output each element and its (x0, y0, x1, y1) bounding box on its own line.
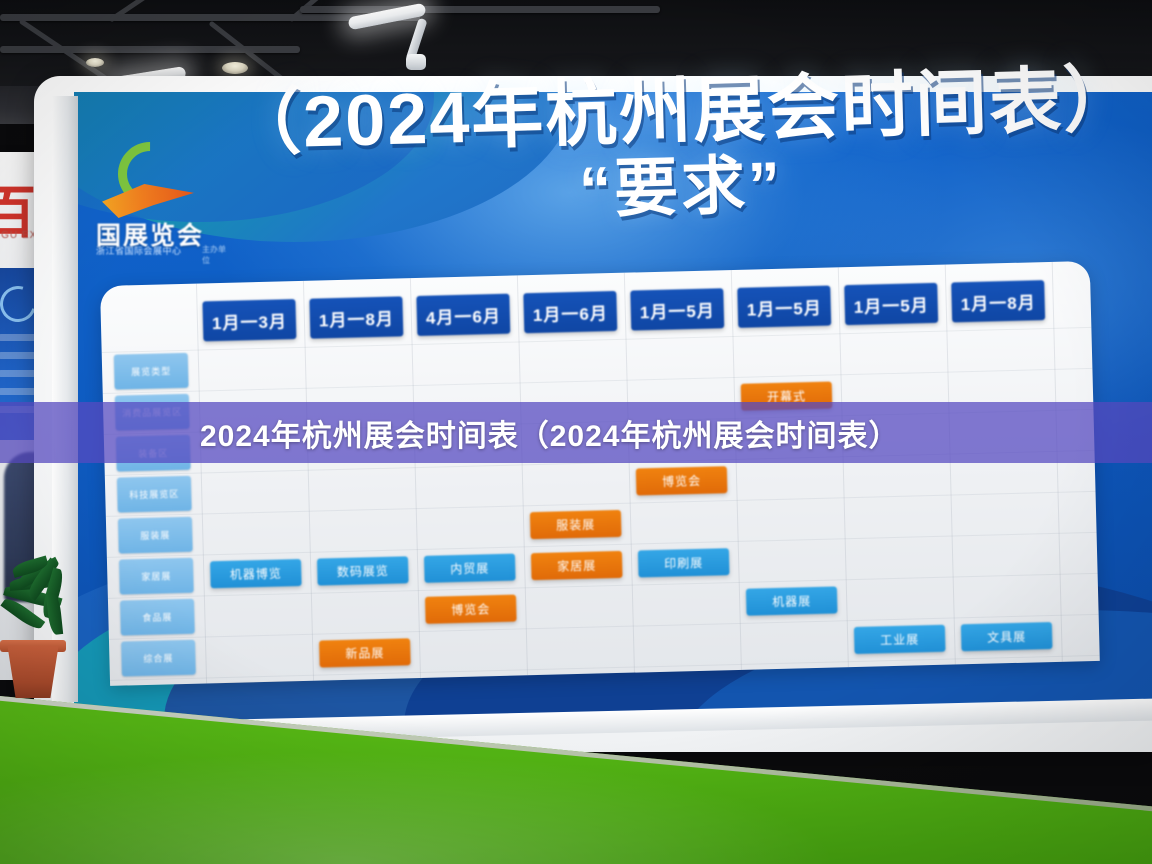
grid-line-vertical (196, 284, 207, 684)
table-column-header[interactable]: 1月一5月 (844, 283, 938, 325)
table-column-header[interactable]: 1月一5月 (630, 288, 724, 330)
table-column-header[interactable]: 1月一8月 (309, 296, 403, 338)
table-row-label[interactable]: 综合展 (121, 640, 196, 677)
schedule-event-block[interactable]: 机器展 (746, 586, 838, 615)
table-column-header[interactable]: 1月一6月 (523, 291, 617, 333)
grid-line-vertical (731, 270, 742, 670)
exhibition-logo: 国展览会 浙江省国际会展中心 主办单位 (96, 140, 226, 268)
banner-headline: （2024年杭州展会时间表） “要求” (228, 61, 1132, 234)
table-column-header[interactable]: 1月一8月 (951, 280, 1045, 322)
ceiling-truss (0, 46, 300, 53)
schedule-event-block[interactable]: 文具展 (961, 622, 1053, 651)
schedule-table-panel: 1月一3月1月一8月4月一6月1月一6月1月一5月1月一5月1月一5月1月一8月… (100, 261, 1100, 686)
grid-line-vertical (410, 278, 421, 678)
grid-line-horizontal (103, 368, 1093, 394)
schedule-event-block[interactable]: 博览会 (425, 595, 517, 624)
schedule-event-block[interactable]: 博览会 (636, 466, 728, 495)
table-row-label[interactable]: 科技展览区 (117, 476, 192, 513)
grid-line-vertical (945, 265, 956, 665)
schedule-event-block[interactable]: 印刷展 (638, 548, 730, 577)
grid-line-vertical (517, 275, 528, 675)
schedule-event-block[interactable]: 新品展 (319, 638, 411, 667)
table-column-header[interactable]: 4月一6月 (416, 294, 510, 336)
schedule-event-block[interactable]: 内贸展 (424, 554, 516, 583)
table-row-label[interactable]: 家居展 (119, 558, 194, 595)
schedule-event-block[interactable]: 机器博览 (210, 559, 302, 588)
caption-title: 2024年杭州展会时间表（2024年杭州展会时间表） (0, 402, 1152, 463)
schedule-event-block[interactable]: 服装展 (530, 510, 622, 539)
grid-line-vertical (303, 281, 314, 681)
logo-tagline: 浙江省国际会展中心 (96, 244, 182, 257)
table-row-label[interactable]: 食品展 (120, 599, 195, 636)
table-column-header[interactable]: 1月一5月 (737, 286, 831, 328)
swoosh-icon (102, 184, 194, 218)
table-column-header[interactable]: 1月一3月 (202, 299, 296, 341)
schedule-event-block[interactable]: 工业展 (854, 625, 946, 654)
grid-line-vertical (624, 273, 635, 673)
grid-line-horizontal (109, 614, 1099, 640)
logo-micro-text: 主办单位 (202, 244, 226, 266)
ceiling-lamp-icon (222, 62, 248, 74)
screenshot-root: 百谷 BAIGU EXHIBITION 国展览会 浙江省国际会展中心 主办单位 … (0, 0, 1152, 864)
grid-line-vertical (838, 267, 849, 667)
table-row-label[interactable]: 服装展 (118, 517, 193, 554)
schedule-event-block[interactable]: 数码展览 (317, 556, 409, 585)
table-row-label[interactable]: 展览类型 (114, 353, 189, 390)
ceiling-lamp-icon (86, 58, 104, 67)
schedule-event-block[interactable]: 家居展 (531, 551, 623, 580)
ceiling-truss (300, 6, 660, 13)
